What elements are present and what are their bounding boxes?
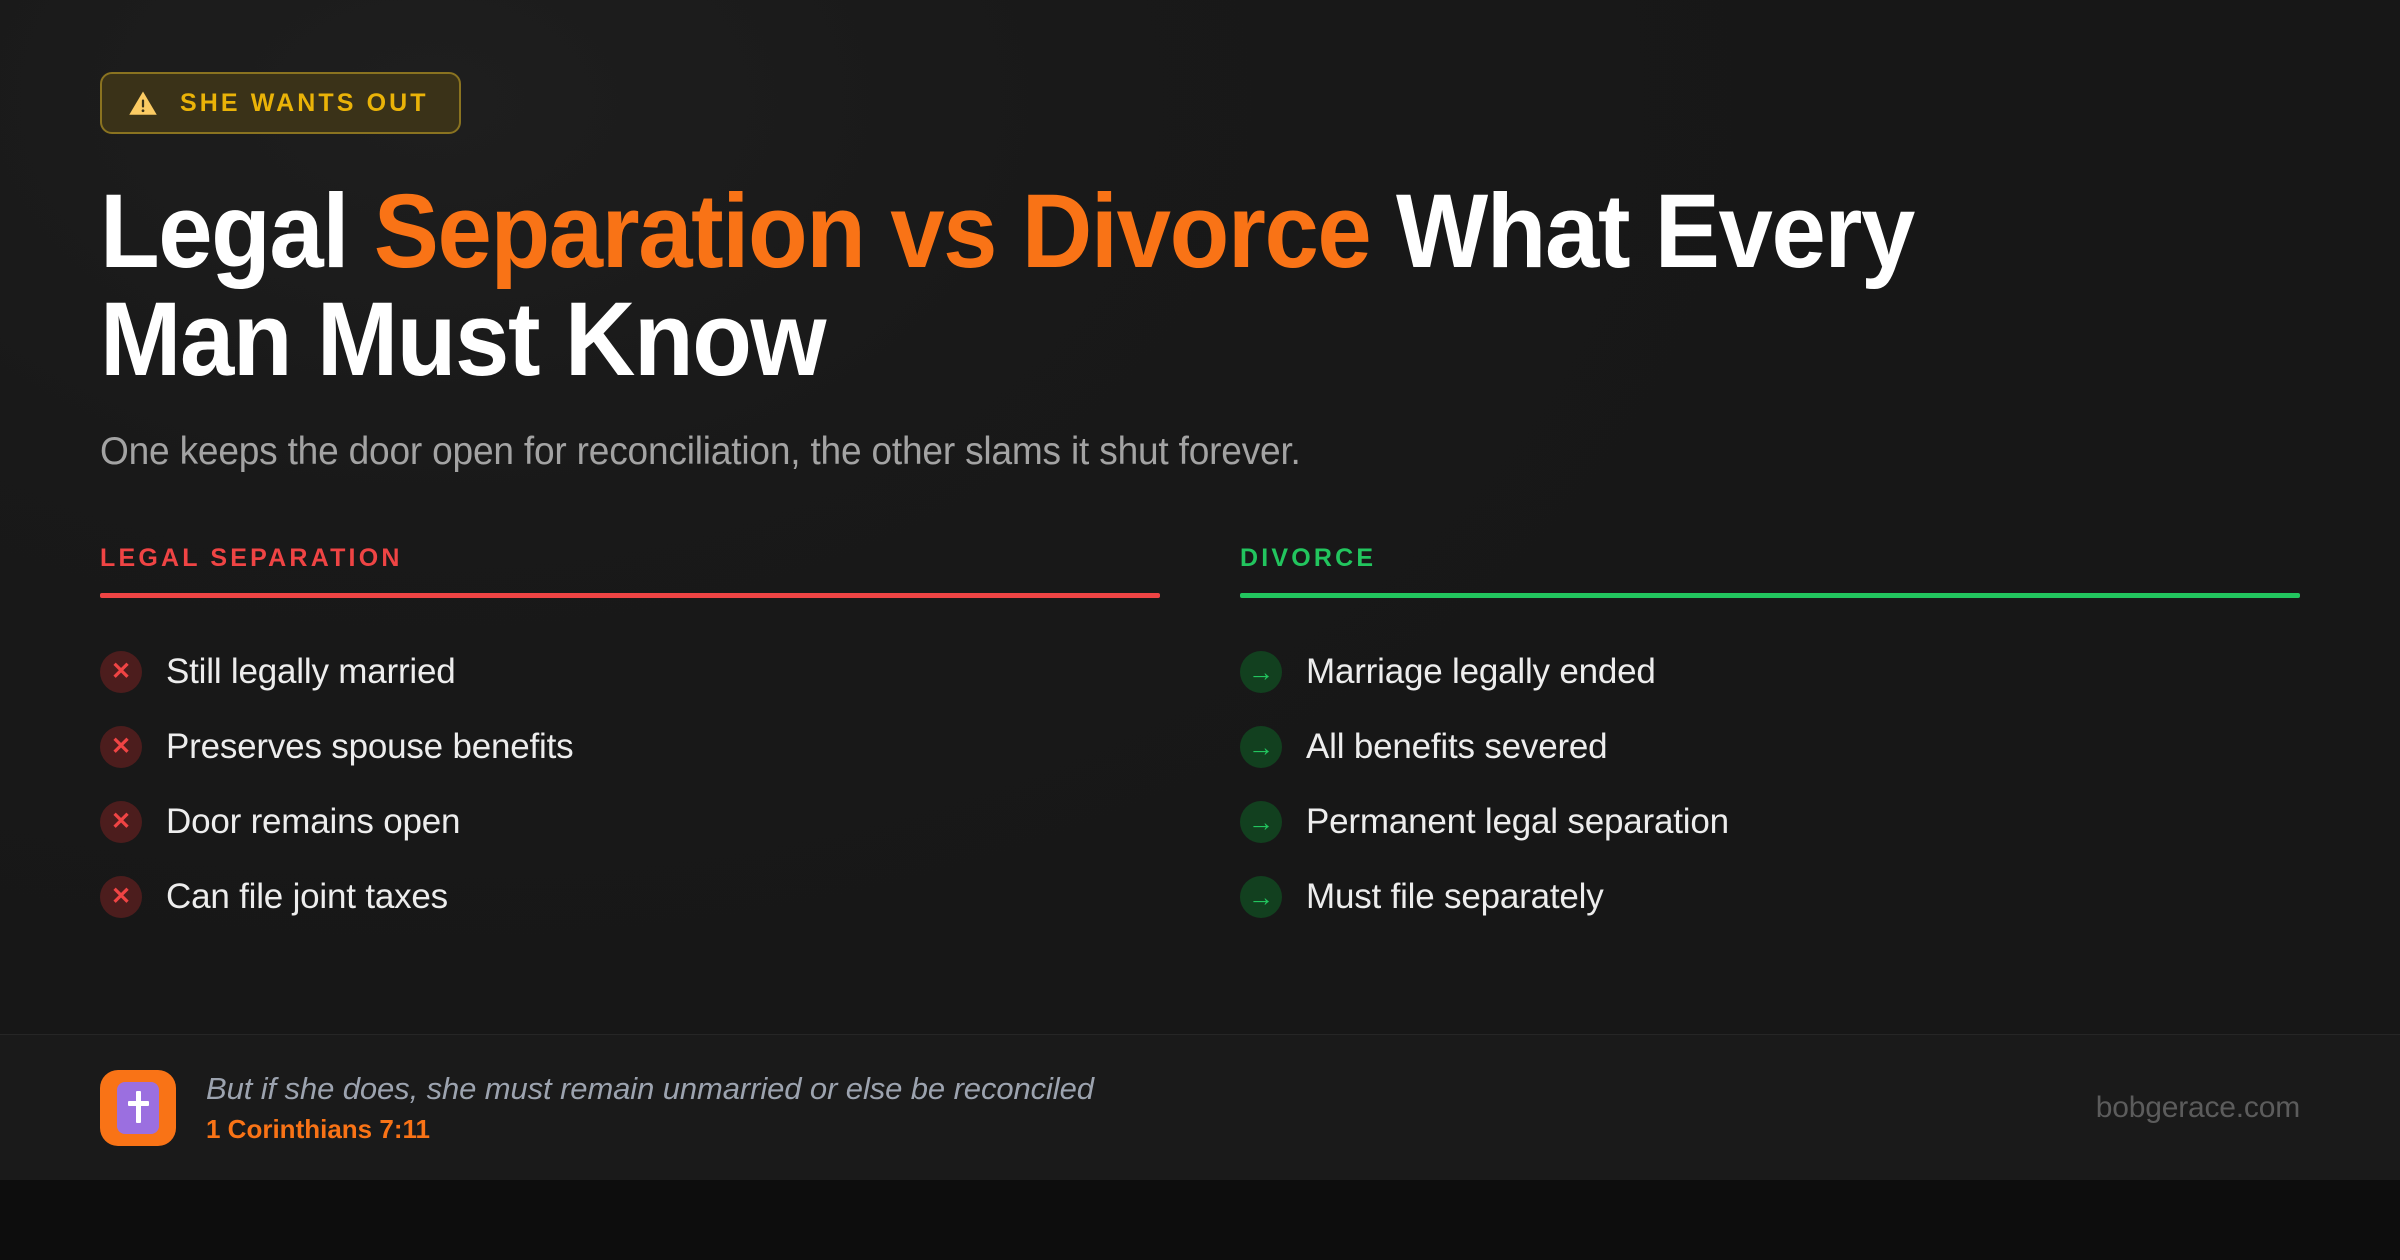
cross-glyph — [117, 1082, 159, 1134]
page-title: Legal Separation vs Divorce What Every M… — [100, 178, 2062, 394]
cross-icon: ✕ — [100, 651, 142, 693]
item-list-divorce: → Marriage legally ended → All benefits … — [1240, 634, 2300, 934]
arrow-right-icon: → — [1240, 801, 1282, 843]
arrow-right-icon: → — [1240, 876, 1282, 918]
page-title-part-1: Legal — [100, 173, 374, 290]
page-subtitle: One keeps the door open for reconciliati… — [100, 430, 2190, 474]
list-item-label: Marriage legally ended — [1306, 652, 1656, 692]
alert-badge-label: SHE WANTS OUT — [180, 91, 429, 116]
item-list-legal-separation: ✕ Still legally married ✕ Preserves spou… — [100, 634, 1160, 934]
arrow-right-icon: → — [1240, 726, 1282, 768]
list-item: ✕ Still legally married — [100, 634, 1160, 709]
site-attribution: bobgerace.com — [2096, 1091, 2300, 1125]
slide-canvas: SHE WANTS OUT Legal Separation vs Divorc… — [0, 0, 2400, 1260]
comparison-columns: LEGAL SEPARATION ✕ Still legally married… — [100, 544, 2300, 934]
cross-icon: ✕ — [100, 801, 142, 843]
list-item: → Must file separately — [1240, 859, 2300, 934]
column-legal-separation: LEGAL SEPARATION ✕ Still legally married… — [100, 544, 1160, 934]
list-item: → All benefits severed — [1240, 709, 2300, 784]
column-rule-legal-separation — [100, 593, 1160, 598]
cross-icon: ✕ — [100, 726, 142, 768]
scripture-verse: But if she does, she must remain unmarri… — [206, 1070, 1094, 1109]
footer-bar: But if she does, she must remain unmarri… — [0, 1034, 2400, 1180]
list-item-label: All benefits severed — [1306, 727, 1607, 767]
cross-icon: ✕ — [100, 876, 142, 918]
list-item: → Permanent legal separation — [1240, 784, 2300, 859]
list-item: → Marriage legally ended — [1240, 634, 2300, 709]
list-item: ✕ Can file joint taxes — [100, 859, 1160, 934]
content-area: SHE WANTS OUT Legal Separation vs Divorc… — [0, 0, 2400, 1034]
list-item-label: Preserves spouse benefits — [166, 727, 573, 767]
list-item-label: Door remains open — [166, 802, 460, 842]
list-item-label: Can file joint taxes — [166, 877, 448, 917]
scripture-reference: 1 Corinthians 7:11 — [206, 1114, 1094, 1145]
arrow-right-icon: → — [1240, 651, 1282, 693]
warning-triangle-icon — [128, 88, 158, 118]
alert-badge: SHE WANTS OUT — [100, 72, 461, 134]
column-rule-divorce — [1240, 593, 2300, 598]
list-item-label: Must file separately — [1306, 877, 1604, 917]
column-heading-divorce: DIVORCE — [1240, 544, 2300, 593]
column-heading-legal-separation: LEGAL SEPARATION — [100, 544, 1160, 593]
bottom-strip — [0, 1180, 2400, 1260]
column-divorce: DIVORCE → Marriage legally ended → All b… — [1240, 544, 2300, 934]
page-title-accent: Separation vs Divorce — [374, 173, 1370, 290]
list-item-label: Permanent legal separation — [1306, 802, 1729, 842]
list-item: ✕ Preserves spouse benefits — [100, 709, 1160, 784]
list-item: ✕ Door remains open — [100, 784, 1160, 859]
scripture-block: But if she does, she must remain unmarri… — [100, 1070, 1094, 1146]
list-item-label: Still legally married — [166, 652, 456, 692]
scripture-text-group: But if she does, she must remain unmarri… — [206, 1070, 1094, 1146]
bible-cross-icon — [100, 1070, 176, 1146]
